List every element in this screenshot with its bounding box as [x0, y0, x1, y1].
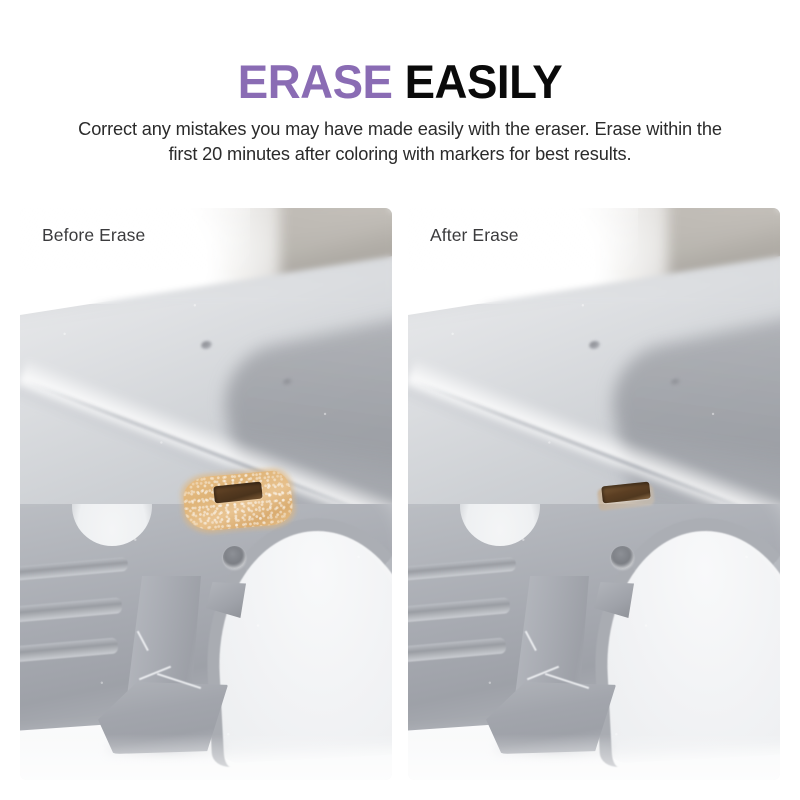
dust-speckles [408, 208, 780, 780]
title-space [392, 55, 404, 108]
panel-before-erase: Before Erase [20, 208, 392, 780]
panel-label-before-erase: Before Erase [42, 225, 145, 246]
panel-label-after-erase: After Erase [430, 225, 519, 246]
title-word-erase: ERASE [238, 55, 393, 108]
title-word-easily: EASILY [405, 55, 563, 108]
dust-speckles [20, 208, 392, 780]
header: ERASE EASILY Correct any mistakes you ma… [0, 0, 800, 167]
panel-after-erase: After Erase [408, 208, 780, 780]
comparison-panels: Before Erase [20, 208, 780, 780]
page-root: ERASE EASILY Correct any mistakes you ma… [0, 0, 800, 800]
page-title: ERASE EASILY [12, 0, 788, 106]
photo-after-erase [408, 208, 780, 780]
photo-before-erase [20, 208, 392, 780]
page-subtitle: Correct any mistakes you may have made e… [65, 106, 735, 166]
